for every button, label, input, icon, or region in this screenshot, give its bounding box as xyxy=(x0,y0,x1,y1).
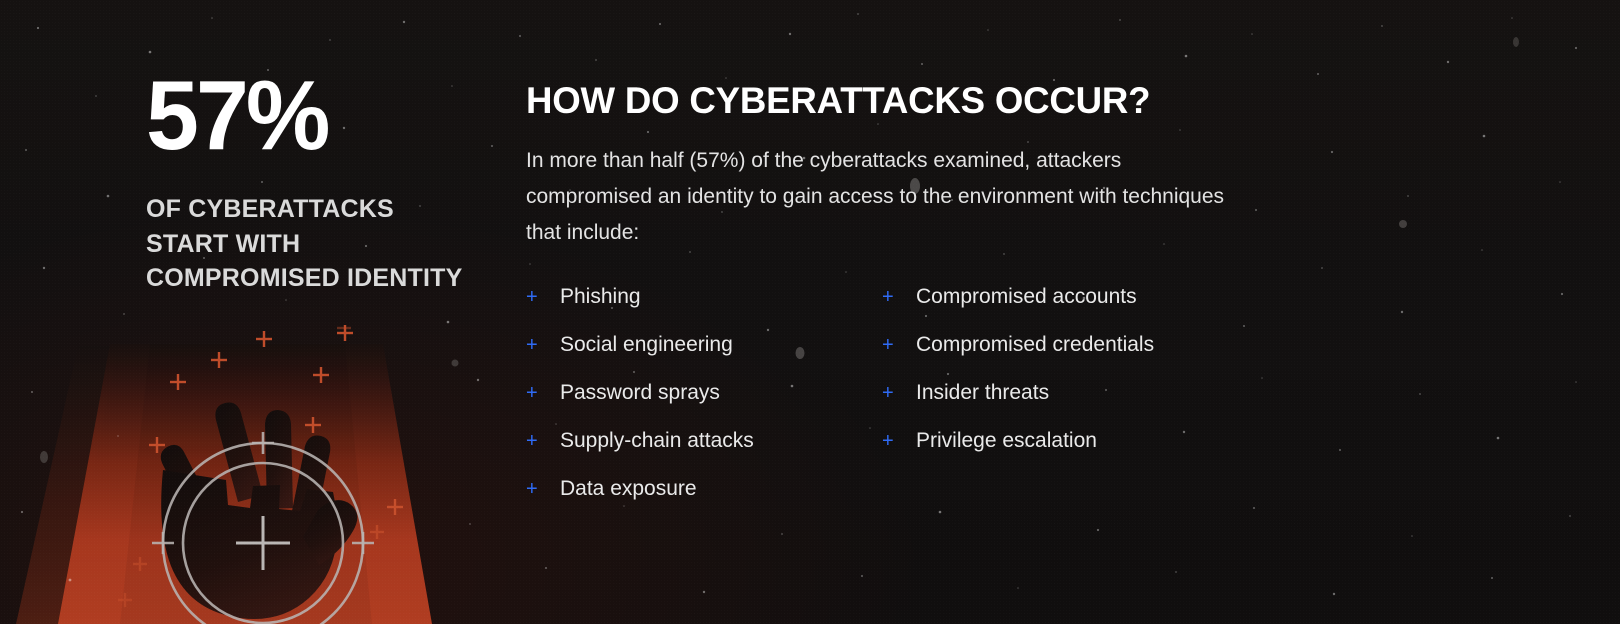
list-item-label: Data exposure xyxy=(560,478,697,499)
list-item-label: Compromised accounts xyxy=(916,286,1137,307)
list-item[interactable]: + Supply-chain attacks xyxy=(526,430,882,478)
list-item-label: Supply-chain attacks xyxy=(560,430,754,451)
bullet-list-right: + Compromised accounts + Compromised cre… xyxy=(882,286,1238,478)
bullet-list-left: + Phishing + Social engineering + Passwo… xyxy=(526,286,882,526)
infographic-panel: 57% OF CYBERATTACKS START WITH COMPROMIS… xyxy=(0,0,1620,624)
technique-column-left: + Phishing + Social engineering + Passwo… xyxy=(526,286,882,526)
list-item-label: Phishing xyxy=(560,286,641,307)
page-title: HOW DO CYBERATTACKS OCCUR? xyxy=(526,82,1536,121)
list-item-label: Insider threats xyxy=(916,382,1049,403)
list-item[interactable]: + Compromised credentials xyxy=(882,334,1238,382)
intro-paragraph: In more than half (57%) of the cyberatta… xyxy=(526,143,1246,251)
list-item[interactable]: + Password sprays xyxy=(526,382,882,430)
main-text-block: HOW DO CYBERATTACKS OCCUR? In more than … xyxy=(526,82,1546,251)
plus-icon: + xyxy=(526,335,560,355)
plus-icon: + xyxy=(526,431,560,451)
plus-icon: + xyxy=(526,383,560,403)
list-item-label: Social engineering xyxy=(560,334,733,355)
plus-icon: + xyxy=(882,431,916,451)
technique-column-right: + Compromised accounts + Compromised cre… xyxy=(882,286,1238,526)
plus-icon: + xyxy=(882,383,916,403)
list-item[interactable]: + Phishing xyxy=(526,286,882,334)
plus-icon: + xyxy=(526,287,560,307)
plus-icon: + xyxy=(882,287,916,307)
stat-value: 57% xyxy=(146,72,476,158)
list-item-label: Password sprays xyxy=(560,382,720,403)
list-item[interactable]: + Compromised accounts xyxy=(882,286,1238,334)
list-item[interactable]: + Insider threats xyxy=(882,382,1238,430)
stat-panel: 57% OF CYBERATTACKS START WITH COMPROMIS… xyxy=(146,72,486,296)
plus-icon: + xyxy=(882,335,916,355)
plus-icon: + xyxy=(526,479,560,499)
list-item[interactable]: + Social engineering xyxy=(526,334,882,382)
list-item-label: Privilege escalation xyxy=(916,430,1097,451)
technique-lists: + Phishing + Social engineering + Passwo… xyxy=(526,286,1526,526)
list-item-label: Compromised credentials xyxy=(916,334,1154,355)
list-item[interactable]: + Privilege escalation xyxy=(882,430,1238,478)
stat-caption: OF CYBERATTACKS START WITH COMPROMISED I… xyxy=(146,192,476,296)
list-item[interactable]: + Data exposure xyxy=(526,478,882,526)
content-area: 57% OF CYBERATTACKS START WITH COMPROMIS… xyxy=(0,0,1620,624)
